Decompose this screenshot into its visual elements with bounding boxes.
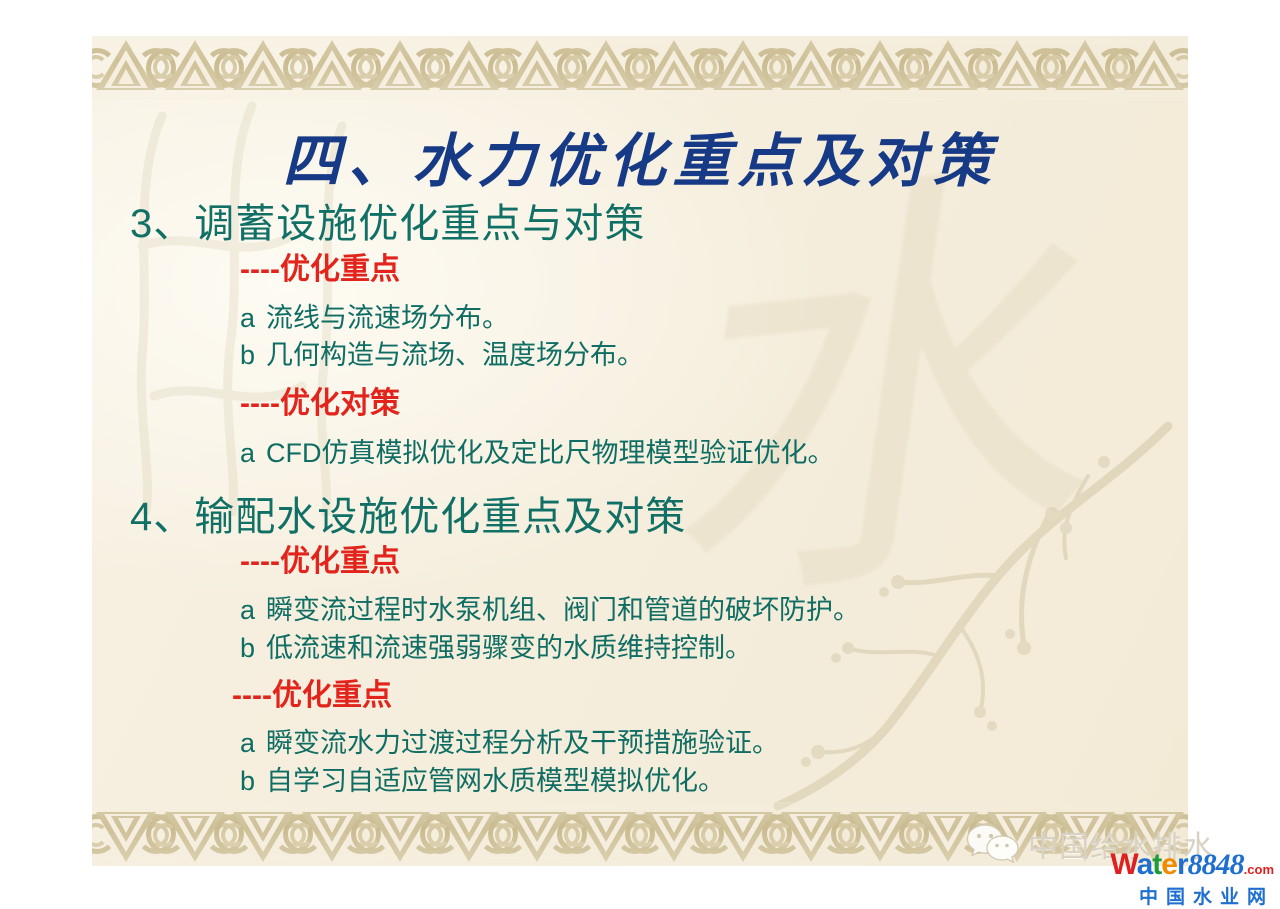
bullet-marker: b: [240, 340, 266, 371]
subheading-3-2: ----优化对策: [240, 378, 400, 422]
subheading-3-1: ----优化重点: [240, 244, 400, 288]
bullet-marker: b: [240, 766, 266, 797]
list-item: a瞬变流过程时水泵机组、阀门和管道的破坏防护。: [240, 588, 860, 627]
list-item: aCFD仿真模拟优化及定比尺物理模型验证优化。: [240, 431, 835, 470]
bullet-text: 瞬变流水力过渡过程分析及干预措施验证。: [266, 728, 779, 758]
bullet-marker: a: [240, 438, 266, 469]
logo-letter-r: r: [1177, 848, 1188, 881]
logo-number: 8848: [1188, 848, 1244, 881]
slide-canvas: 水: [92, 36, 1188, 866]
logo-letter-e: e: [1161, 848, 1177, 881]
branding-watermark: 中国给水排水 Water8848.com 中国水业网: [960, 820, 1280, 904]
logo-letter-w: W: [1110, 848, 1136, 881]
bullet-marker: a: [240, 303, 266, 334]
bullet-marker: a: [240, 595, 266, 626]
bullet-text: 自学习自适应管网水质模型模拟优化。: [266, 766, 725, 796]
logo-letter-a: a: [1137, 848, 1153, 881]
bullet-text: 瞬变流过程时水泵机组、阀门和管道的破坏防护。: [266, 595, 860, 625]
section-heading-3: 3、调蓄设施优化重点与对策: [130, 191, 645, 249]
list-item: b自学习自适应管网水质模型模拟优化。: [240, 759, 725, 798]
list-item: b几何构造与流场、温度场分布。: [240, 333, 644, 372]
list-item: b低流速和流速强弱骤变的水质维持控制。: [240, 626, 752, 665]
decorative-border-top: [92, 36, 1188, 100]
logo-letter-t: t: [1152, 848, 1161, 881]
subheading-4-2: ----优化重点: [232, 670, 392, 714]
section-heading-4: 4、输配水设施优化重点及对策: [130, 484, 686, 542]
bullet-text: CFD仿真模拟优化及定比尺物理模型验证优化。: [266, 438, 835, 468]
page-title: 四、水力优化重点及对策: [92, 114, 1188, 198]
bullet-text: 低流速和流速强弱骤变的水质维持控制。: [266, 633, 752, 663]
water8848-wordmark: Water8848.com: [1110, 850, 1274, 880]
bullet-marker: a: [240, 728, 266, 759]
subheading-4-1: ----优化重点: [240, 536, 400, 580]
bullet-marker: b: [240, 633, 266, 664]
bullet-text: 流线与流速场分布。: [266, 303, 509, 333]
logo-domain: .com: [1244, 862, 1274, 877]
list-item: a瞬变流水力过渡过程分析及干预措施验证。: [240, 721, 779, 760]
logo-subtitle: 中国水业网: [1110, 882, 1274, 909]
list-item: a流线与流速场分布。: [240, 296, 509, 335]
wechat-icon: [966, 823, 1020, 865]
bullet-text: 几何构造与流场、温度场分布。: [266, 340, 644, 370]
water8848-logo: Water8848.com 中国水业网: [1110, 850, 1274, 909]
